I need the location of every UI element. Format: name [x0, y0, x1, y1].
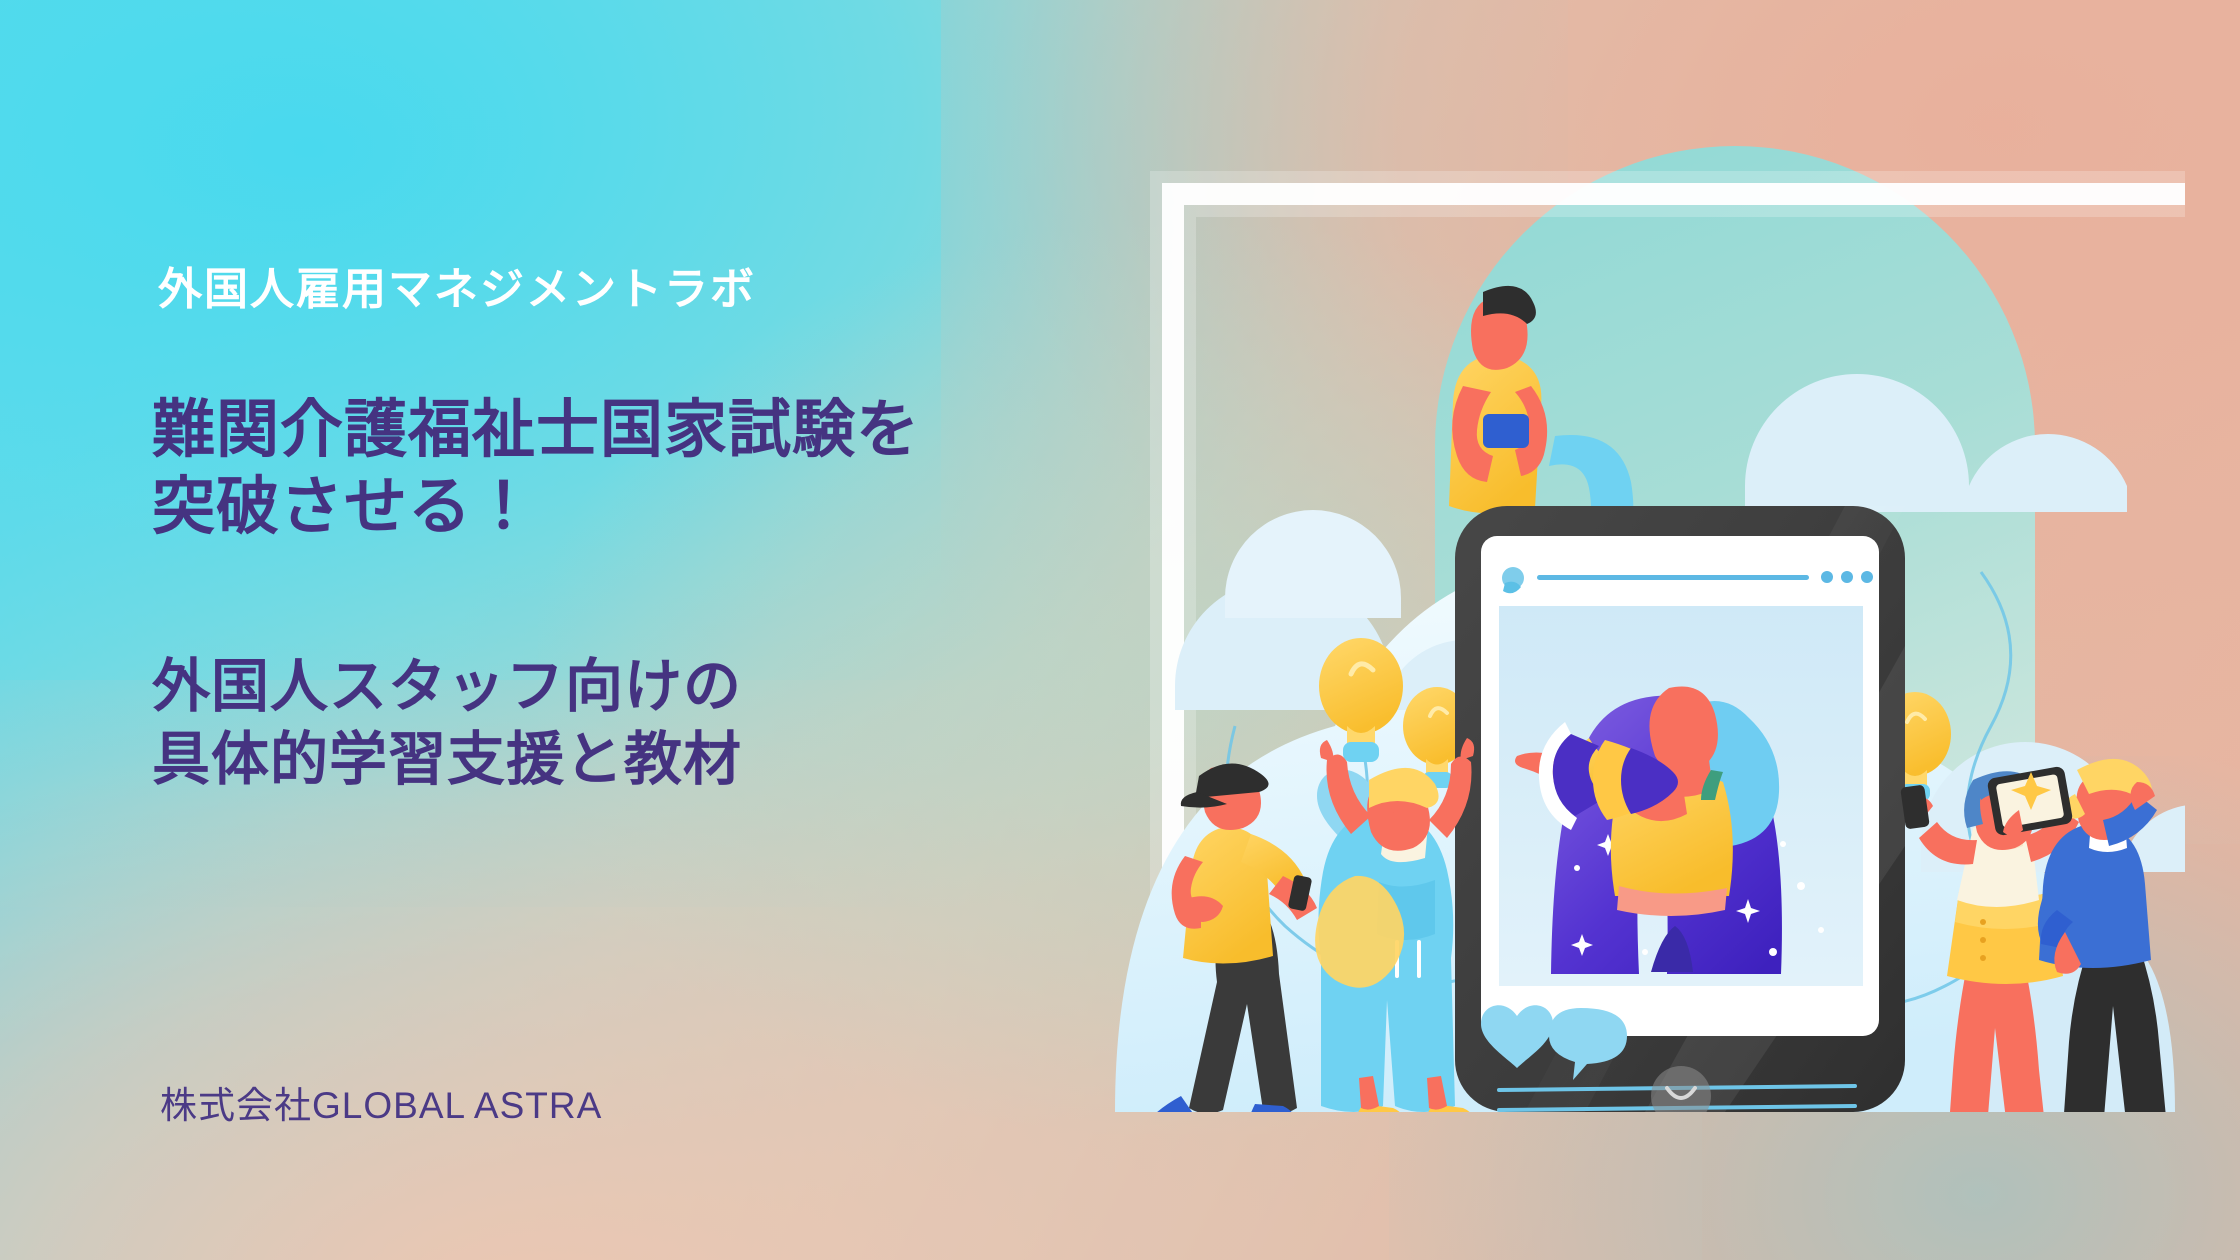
cloud-left-small [1225, 510, 1401, 618]
slide-canvas: 外国人雇用マネジメントラボ 難関介護福祉士国家試験を 突破させる！ 外国人スタッ… [0, 0, 2240, 1260]
post-image [1499, 606, 1863, 986]
company-name: 株式会社GLOBAL ASTRA [160, 1075, 602, 1129]
person-in-overalls-cheering [1315, 738, 1475, 1112]
post-title-bar [1537, 575, 1809, 580]
three-dot-menu [1821, 571, 1873, 583]
copy-deck: 外国人雇用マネジメントラボ 難関介護福祉士国家試験を 突破させる！ 外国人スタッ… [0, 0, 1040, 1260]
page-title: 難関介護福祉士国家試験を 突破させる！ [152, 392, 920, 546]
tablet-device [1455, 506, 1905, 1112]
hero-illustration [1085, 86, 2185, 1112]
page-subtitle: 外国人スタッフ向けの 具体的学習支援と教材 [152, 650, 742, 796]
eyebrow-label: 外国人雇用マネジメントラボ [158, 262, 756, 317]
